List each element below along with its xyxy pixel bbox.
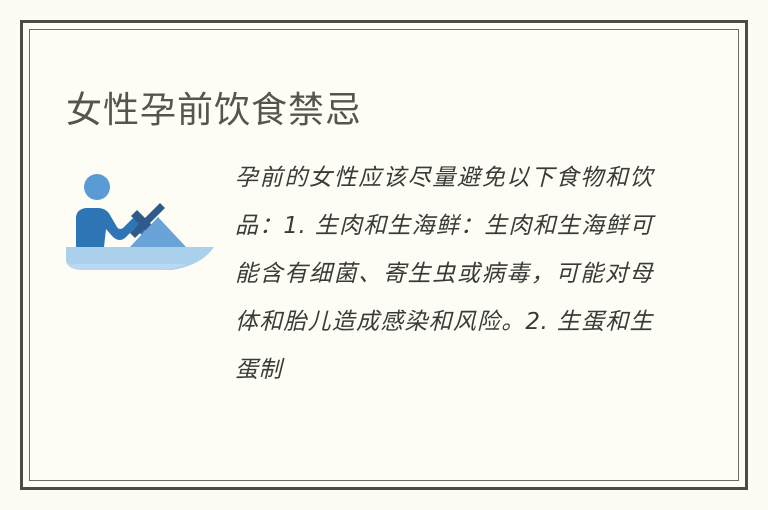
document-card: 女性孕前饮食禁忌 孕前的女性应该尽量避免以下 — [20, 20, 748, 490]
body-text: 孕前的女性应该尽量避免以下食物和饮品：1. 生肉和生海鲜：生肉和生海鲜可能含有细… — [235, 154, 653, 394]
page-title: 女性孕前饮食禁忌 — [66, 88, 362, 132]
illustration-head — [84, 174, 110, 200]
illustration-hull-wake — [68, 264, 188, 270]
person-rowing-boat-illustration — [62, 169, 222, 279]
document-card-inner-frame: 女性孕前饮食禁忌 孕前的女性应该尽量避免以下 — [29, 29, 739, 481]
